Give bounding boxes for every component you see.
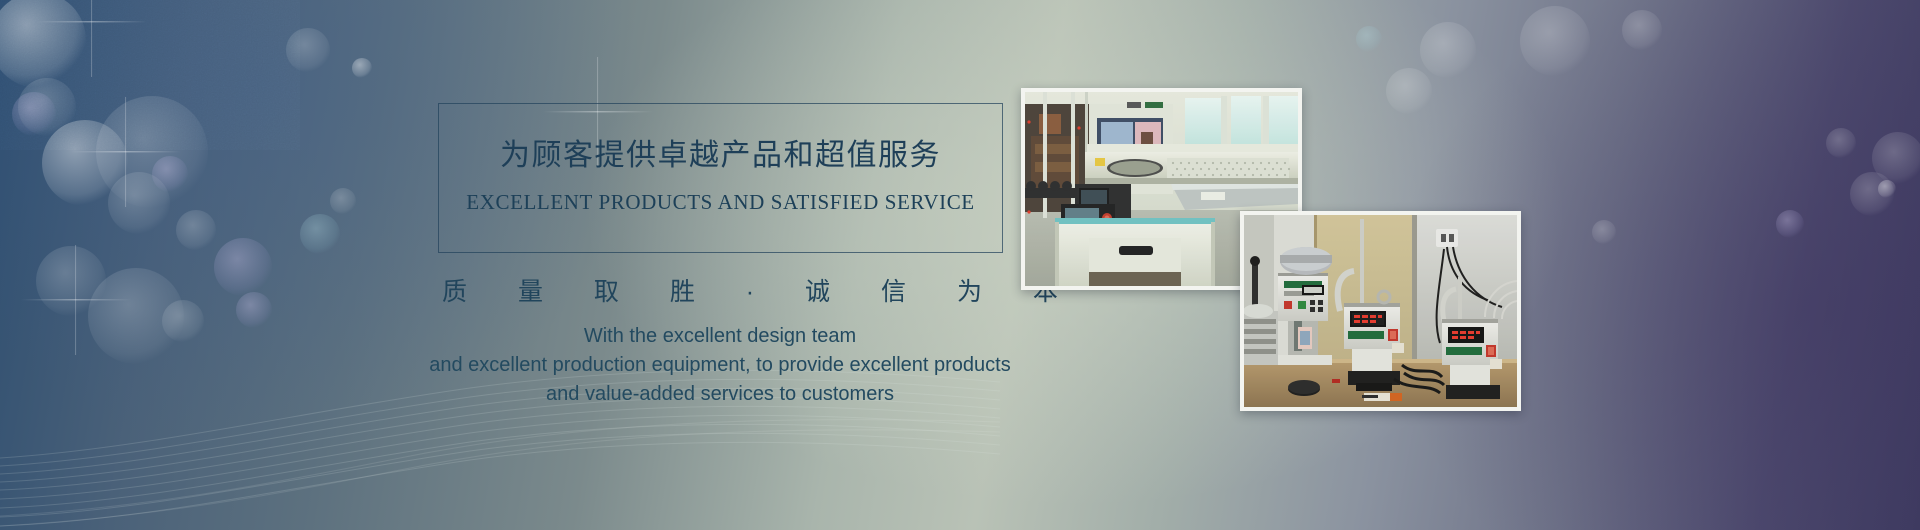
grain-texture bbox=[0, 0, 300, 150]
paragraph-english: With the excellent design team and excel… bbox=[330, 322, 1110, 409]
workshop-machines-scene bbox=[1244, 215, 1517, 407]
paragraph-line-3: and value-added services to customers bbox=[330, 380, 1110, 409]
headline-frame bbox=[438, 103, 1003, 253]
paragraph-line-2: and excellent production equipment, to p… bbox=[330, 351, 1110, 380]
paragraph-line-1: With the excellent design team bbox=[330, 322, 1110, 351]
company-promo-banner: 为顾客提供卓越产品和超值服务 EXCELLENT PRODUCTS AND SA… bbox=[0, 0, 1920, 530]
headline-english: EXCELLENT PRODUCTS AND SATISFIED SERVICE bbox=[438, 190, 1003, 215]
headline-chinese: 为顾客提供卓越产品和超值服务 bbox=[438, 130, 1003, 174]
slogan-chinese: 质 量 取 胜 · 诚 信 为 本 bbox=[420, 272, 1020, 308]
workshop-machines-photo bbox=[1240, 211, 1521, 411]
